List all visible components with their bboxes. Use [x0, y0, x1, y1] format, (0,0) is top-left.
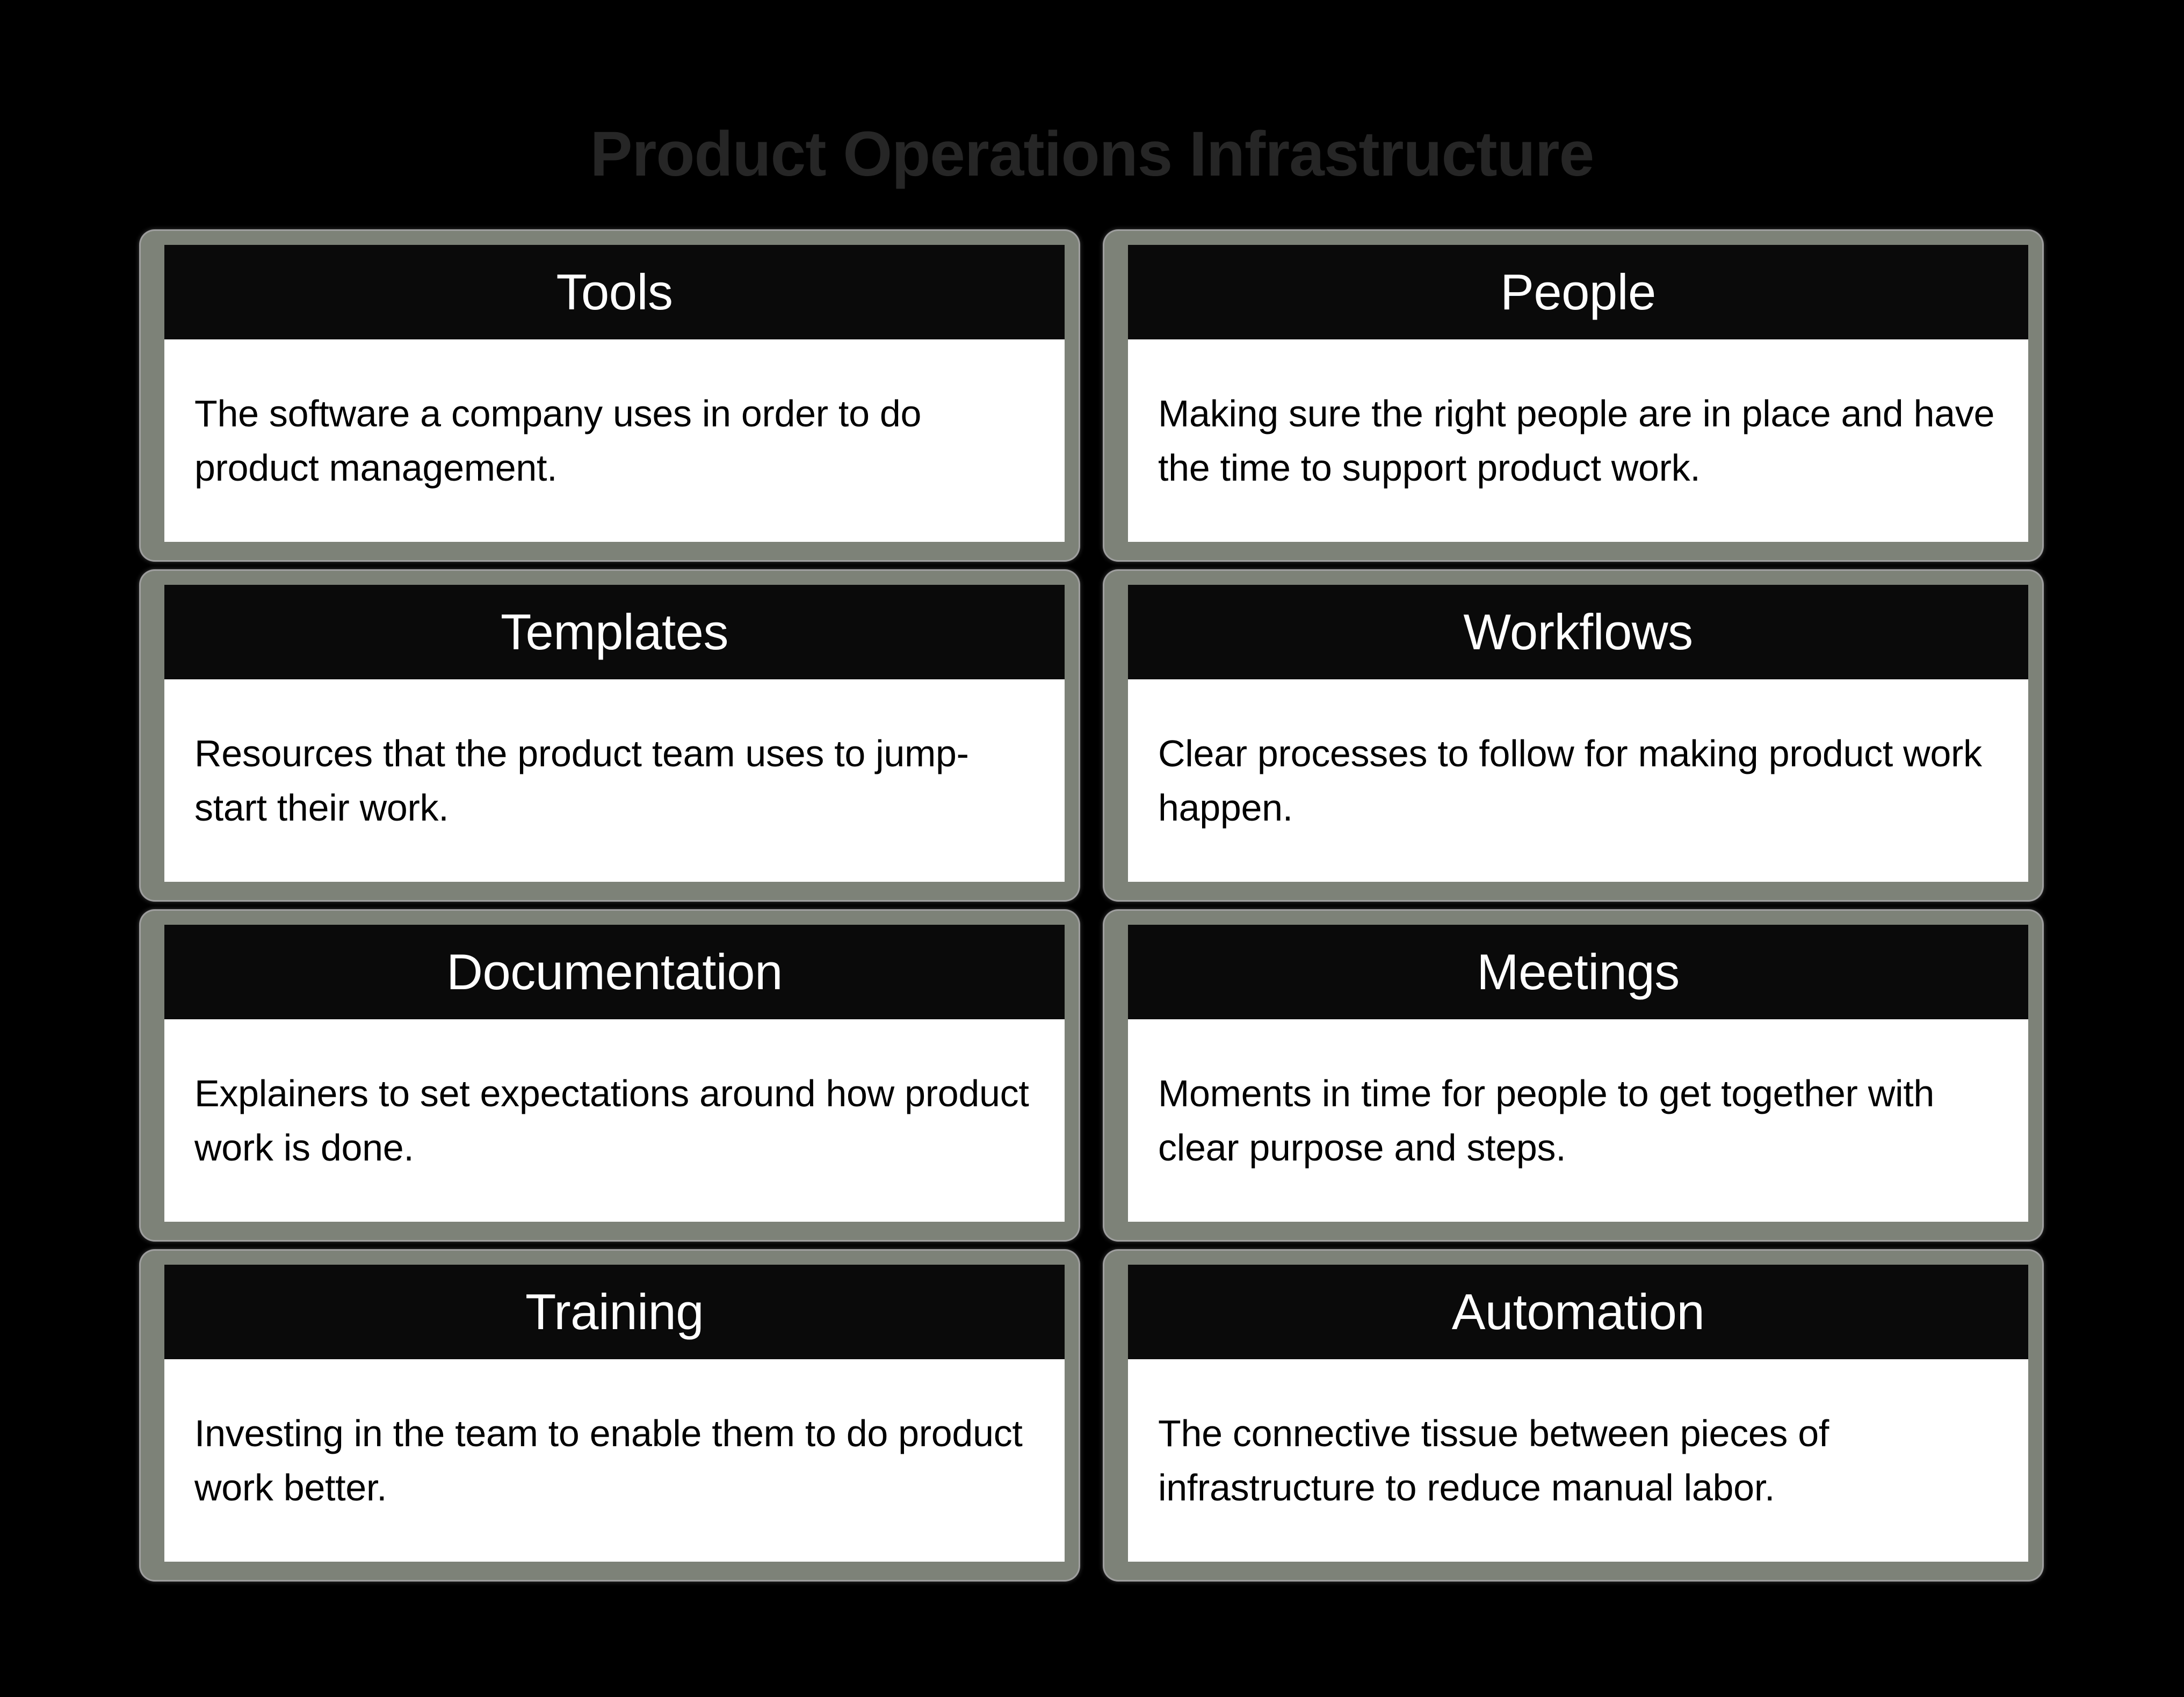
- card-body: Investing in the team to enable them to …: [164, 1359, 1065, 1562]
- card-meetings[interactable]: Meetings Moments in time for people to g…: [1104, 911, 2042, 1240]
- slide-canvas: Product Operations Infrastructure Tools …: [0, 0, 2184, 1697]
- card-training[interactable]: Training Investing in the team to enable…: [141, 1251, 1079, 1580]
- card-documentation[interactable]: Documentation Explainers to set expectat…: [141, 911, 1079, 1240]
- card-grid: Tools The software a company uses in ord…: [141, 231, 2042, 1580]
- card-inner: Automation The connective tissue between…: [1128, 1265, 2028, 1562]
- card-title: Workflows: [1463, 607, 1693, 657]
- card-workflows[interactable]: Workflows Clear processes to follow for …: [1104, 571, 2042, 900]
- card-title: Automation: [1452, 1287, 1705, 1337]
- card-body: The software a company uses in order to …: [164, 339, 1065, 542]
- card-inner: Workflows Clear processes to follow for …: [1128, 585, 2028, 882]
- card-automation[interactable]: Automation The connective tissue between…: [1104, 1251, 2042, 1580]
- card-people[interactable]: People Making sure the right people are …: [1104, 231, 2042, 560]
- card-description: The software a company uses in order to …: [194, 387, 1036, 495]
- card-header: Workflows: [1128, 585, 2028, 679]
- card-header: Automation: [1128, 1265, 2028, 1359]
- card-header: People: [1128, 245, 2028, 339]
- card-header: Tools: [164, 245, 1065, 339]
- card-body: Moments in time for people to get togeth…: [1128, 1019, 2028, 1222]
- card-description: Investing in the team to enable them to …: [194, 1406, 1036, 1515]
- card-description: Explainers to set expectations around ho…: [194, 1067, 1036, 1175]
- card-title: Meetings: [1477, 947, 1679, 997]
- card-title: People: [1500, 267, 1656, 317]
- card-description: Resources that the product team uses to …: [194, 727, 1036, 835]
- card-title: Documentation: [446, 947, 783, 997]
- card-body: Resources that the product team uses to …: [164, 679, 1065, 882]
- card-description: The connective tissue between pieces of …: [1158, 1406, 1999, 1515]
- page-title: Product Operations Infrastructure: [0, 122, 2184, 186]
- card-title: Training: [525, 1287, 704, 1337]
- card-description: Making sure the right people are in plac…: [1158, 387, 1999, 495]
- card-inner: Templates Resources that the product tea…: [164, 585, 1065, 882]
- card-header: Meetings: [1128, 925, 2028, 1019]
- card-body: Making sure the right people are in plac…: [1128, 339, 2028, 542]
- card-inner: People Making sure the right people are …: [1128, 245, 2028, 542]
- card-inner: Documentation Explainers to set expectat…: [164, 925, 1065, 1222]
- card-description: Clear processes to follow for making pro…: [1158, 727, 1999, 835]
- card-inner: Training Investing in the team to enable…: [164, 1265, 1065, 1562]
- card-header: Training: [164, 1265, 1065, 1359]
- card-title: Templates: [501, 607, 728, 657]
- card-header: Templates: [164, 585, 1065, 679]
- card-body: Explainers to set expectations around ho…: [164, 1019, 1065, 1222]
- card-title: Tools: [556, 267, 673, 317]
- card-body: Clear processes to follow for making pro…: [1128, 679, 2028, 882]
- card-description: Moments in time for people to get togeth…: [1158, 1067, 1999, 1175]
- card-templates[interactable]: Templates Resources that the product tea…: [141, 571, 1079, 900]
- card-inner: Meetings Moments in time for people to g…: [1128, 925, 2028, 1222]
- card-inner: Tools The software a company uses in ord…: [164, 245, 1065, 542]
- card-header: Documentation: [164, 925, 1065, 1019]
- card-body: The connective tissue between pieces of …: [1128, 1359, 2028, 1562]
- card-tools[interactable]: Tools The software a company uses in ord…: [141, 231, 1079, 560]
